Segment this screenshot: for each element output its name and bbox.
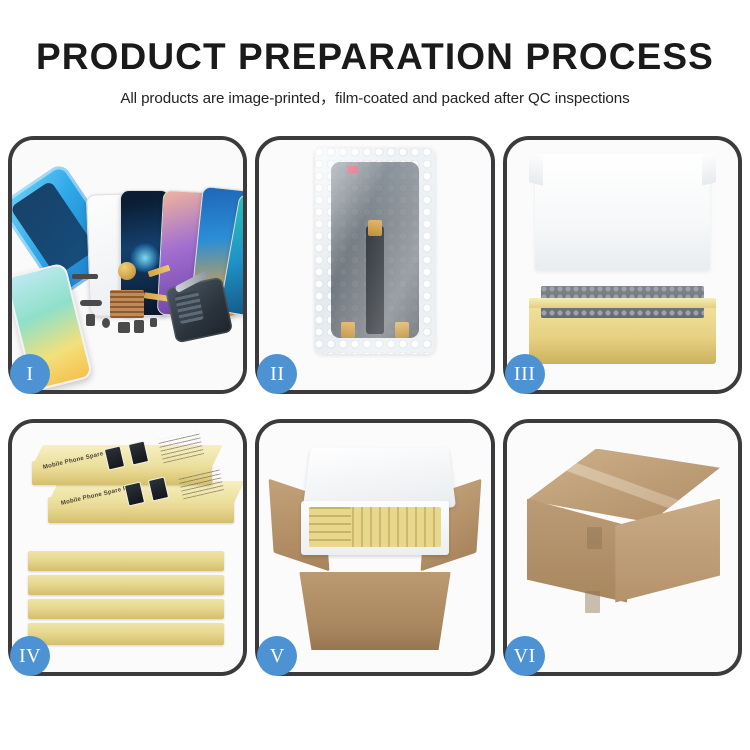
process-step-5[interactable]: V bbox=[255, 419, 494, 677]
process-step-3[interactable]: III bbox=[503, 136, 742, 394]
carton-front-wall bbox=[299, 572, 450, 650]
bubble-wrap-bag bbox=[315, 148, 435, 354]
step-badge-2: II bbox=[257, 354, 297, 394]
step-5-image bbox=[259, 423, 490, 673]
process-step-4[interactable]: Mobile Phone Spare Parts Mobile Phone Sp… bbox=[8, 419, 247, 677]
process-step-1[interactable]: I bbox=[8, 136, 247, 394]
process-step-grid: I II bbox=[8, 136, 742, 676]
header: PRODUCT PREPARATION PROCESS All products… bbox=[0, 36, 750, 108]
step-1-image bbox=[12, 140, 243, 390]
gold-box-stack: Mobile Phone Spare Parts Mobile Phone Sp… bbox=[26, 439, 233, 655]
step-4-image: Mobile Phone Spare Parts Mobile Phone Sp… bbox=[12, 423, 243, 673]
page-title: PRODUCT PREPARATION PROCESS bbox=[0, 36, 750, 77]
step-3-image bbox=[507, 140, 738, 390]
spare-parts-cluster bbox=[72, 260, 212, 342]
sealed-carton bbox=[523, 449, 724, 647]
product-preparation-infographic: PRODUCT PREPARATION PROCESS All products… bbox=[0, 0, 750, 750]
step-6-image bbox=[507, 423, 738, 673]
step-badge-3: III bbox=[505, 354, 545, 394]
page-subtitle: All products are image-printed，film-coat… bbox=[0, 86, 750, 108]
process-step-2[interactable]: II bbox=[255, 136, 494, 394]
step-badge-4: IV bbox=[10, 636, 50, 676]
white-foam-lid bbox=[535, 154, 710, 270]
process-step-6[interactable]: VI bbox=[503, 419, 742, 677]
open-shipping-carton bbox=[275, 445, 474, 651]
foam-box-lid bbox=[303, 447, 457, 507]
packing-tape bbox=[552, 455, 687, 513]
step-2-image bbox=[259, 140, 490, 390]
step-badge-6: VI bbox=[505, 636, 545, 676]
step-badge-1: I bbox=[10, 354, 50, 394]
gold-box-tray bbox=[529, 306, 716, 364]
